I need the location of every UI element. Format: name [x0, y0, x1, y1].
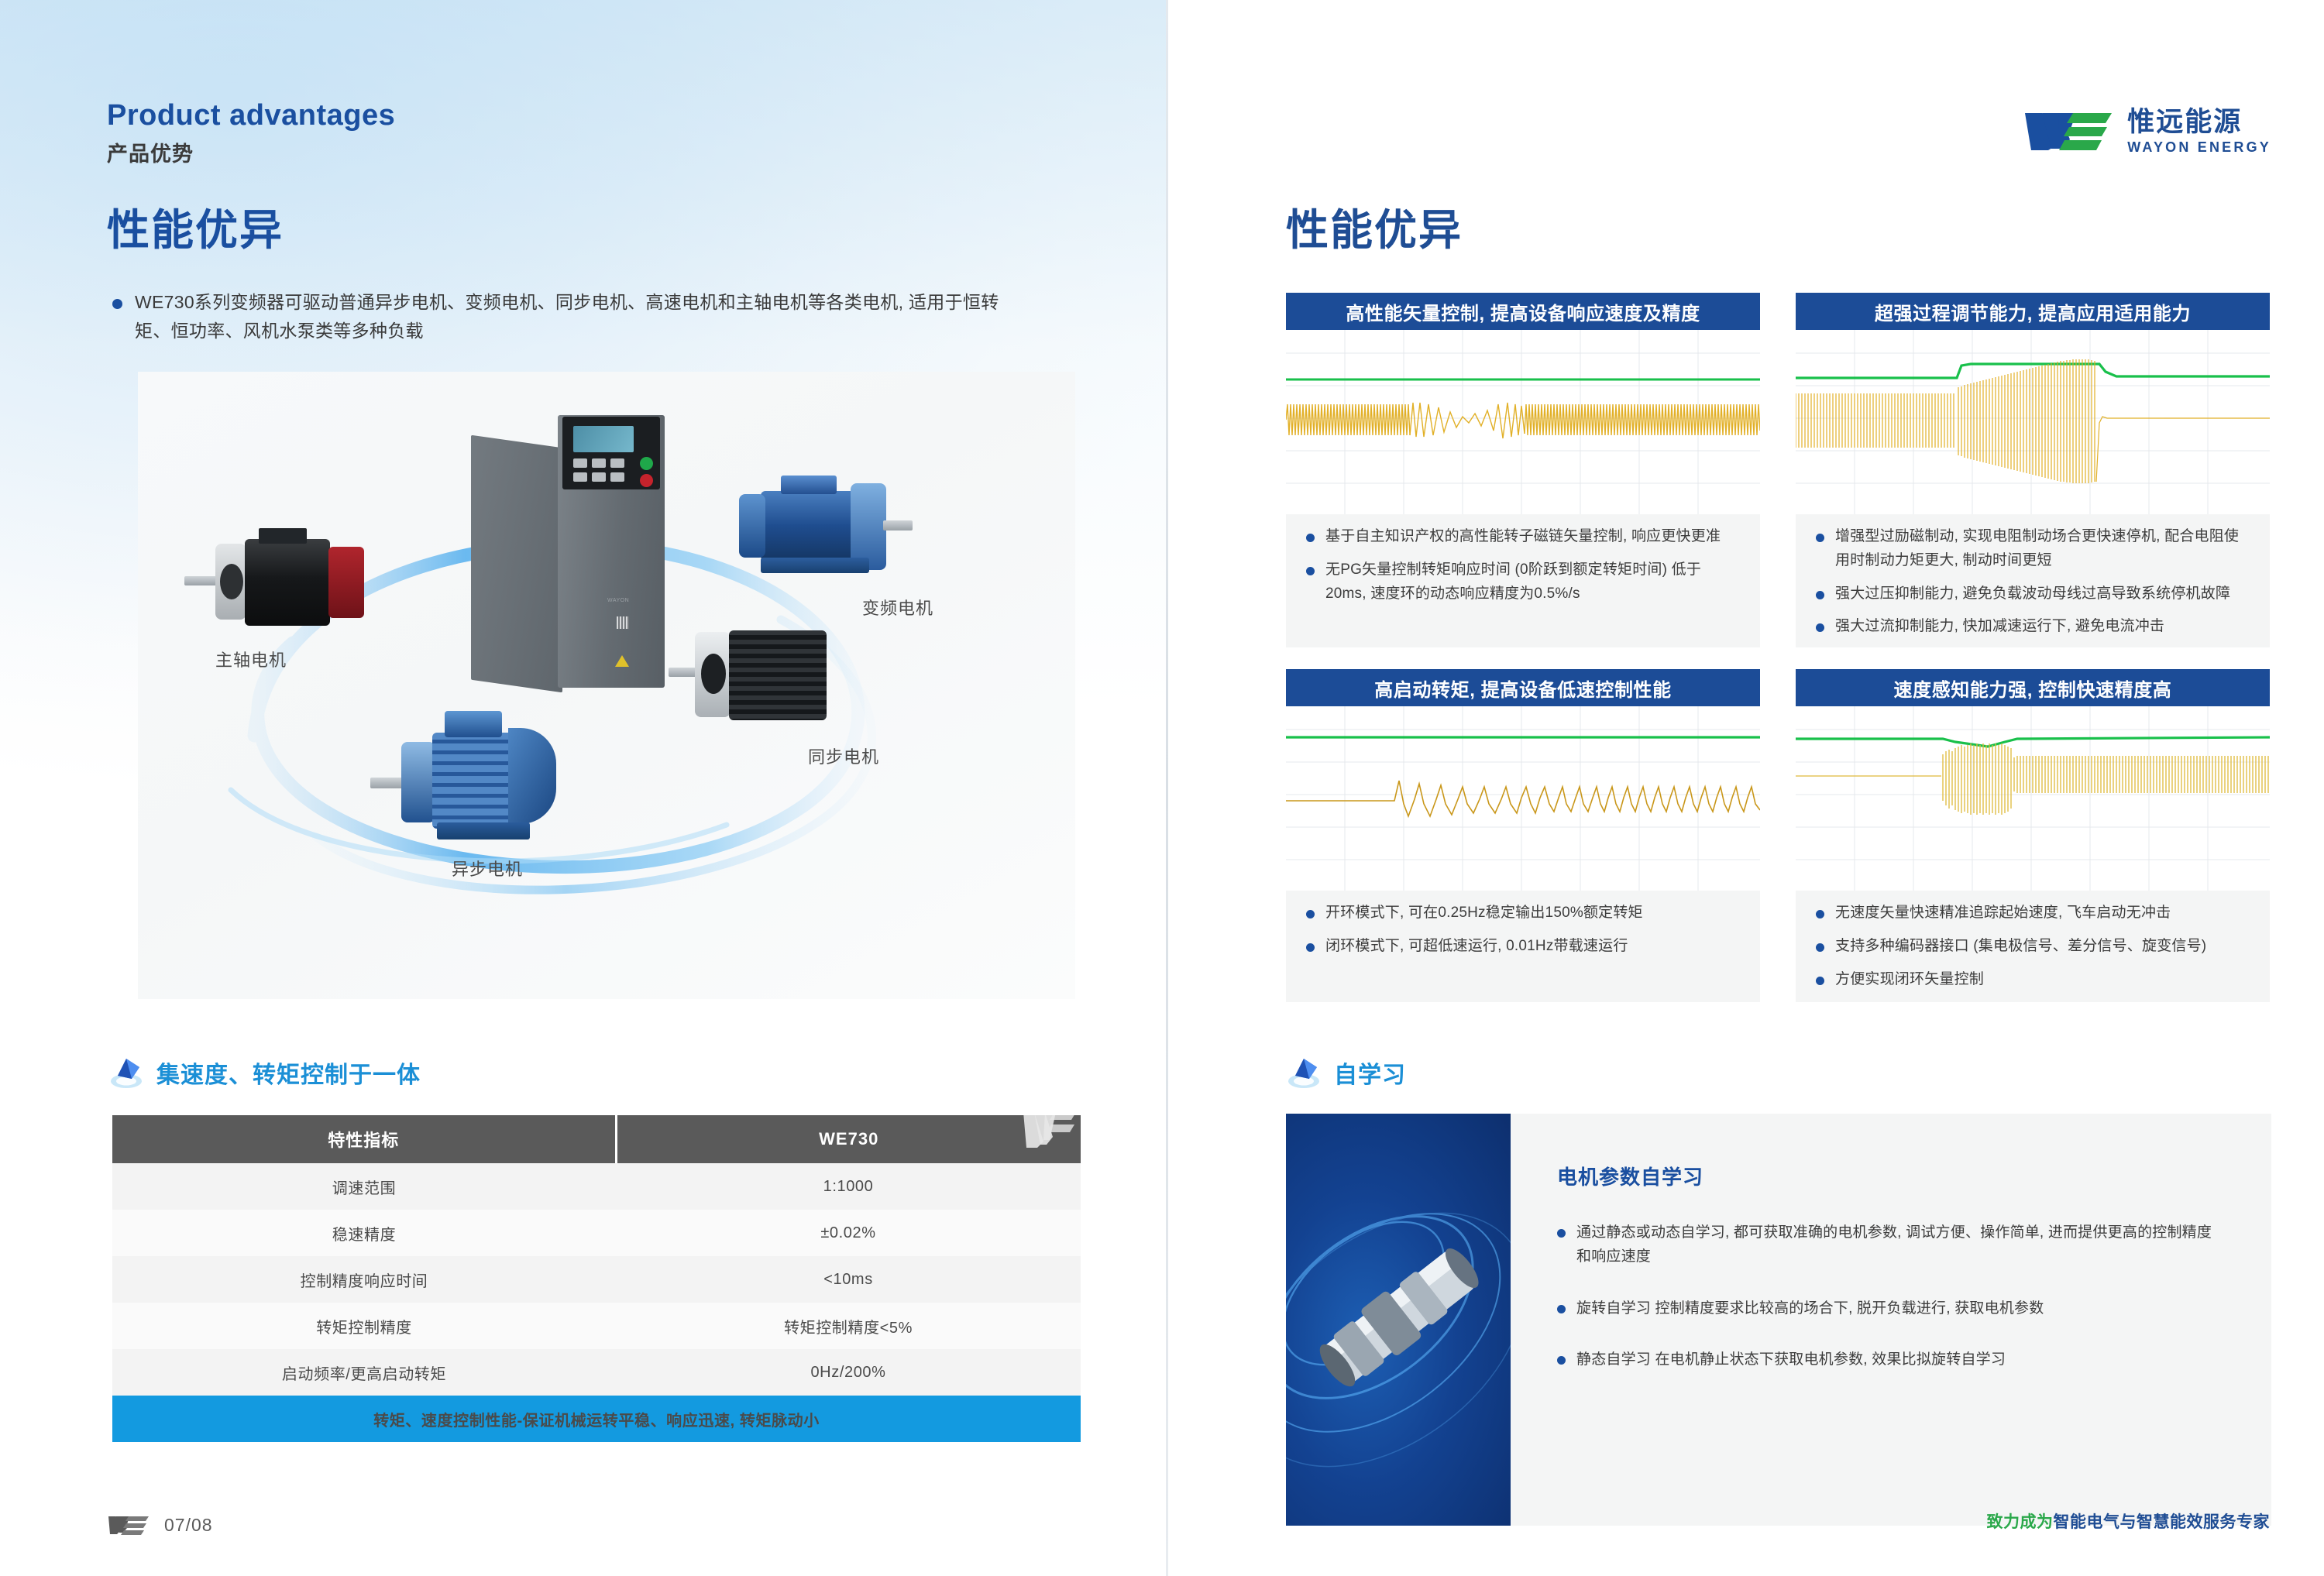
- vfd-key: [592, 472, 606, 482]
- self-learning-item: 通过静态或动态自学习, 都可获取准确的电机参数, 调试方便、操作简单, 进而提供…: [1557, 1221, 2225, 1269]
- card-bullet-text: 无PG矢量控制转矩响应时间 (0阶跃到额定转矩时间) 低于20ms, 速度环的动…: [1325, 558, 1740, 606]
- waveform-scope-speed-sensing: [1796, 706, 2270, 891]
- table-cell-value: 1:1000: [616, 1163, 1081, 1210]
- table-row: 调速范围1:1000: [112, 1163, 1081, 1210]
- variable-frequency-motor-image: [734, 471, 913, 587]
- vfd-key: [573, 472, 587, 482]
- section-heading-speed-torque: 集速度、转矩控制于一体: [108, 1055, 421, 1090]
- card-bullet-item: 方便实现闭环矢量控制: [1816, 968, 2250, 992]
- bullet-dot-icon: [1816, 943, 1824, 952]
- bullet-dot-icon: [112, 299, 122, 309]
- bullet-dot-icon: [1816, 534, 1824, 542]
- logo-chinese-name: 惟远能源: [2127, 108, 2271, 136]
- card-bullet-list: 无速度矢量快速精准追踪起始速度, 飞车启动无冲击 支持多种编码器接口 (集电极信…: [1796, 891, 2270, 1008]
- card-bullet-item: 增强型过励磁制动, 实现电阻制动场合更快速停机, 配合电阻使用时制动力矩更大, …: [1816, 525, 2250, 573]
- vfd-key: [592, 458, 606, 468]
- table-cell-metric: 调速范围: [112, 1163, 616, 1210]
- table-row: 转矩控制精度转矩控制精度<5%: [112, 1303, 1081, 1349]
- card-bullet-item: 基于自主知识产权的高性能转子磁链矢量控制, 响应更快更准: [1306, 525, 1740, 549]
- table-cell-metric: 转矩控制精度: [112, 1303, 616, 1349]
- card-bullet-text: 支持多种编码器接口 (集电极信号、差分信号、旋变信号): [1835, 935, 2206, 959]
- table-row: 稳速精度±0.02%: [112, 1210, 1081, 1256]
- card-header: 高启动转矩, 提高设备低速控制性能: [1286, 669, 1760, 706]
- card-process-regulation[interactable]: 超强过程调节能力, 提高应用适用能力: [1796, 293, 2270, 647]
- self-learning-item: 旋转自学习 控制精度要求比较高的场合下, 脱开负载进行, 获取电机参数: [1557, 1297, 2225, 1321]
- footer-tagline: 致力成为智能电气与智慧能效服务专家: [1987, 1509, 2271, 1533]
- logo-english-name: WAYON ENERGY: [2127, 140, 2271, 154]
- bullet-dot-icon: [1816, 591, 1824, 599]
- brochure-page: Product advantages 产品优势 性能优异 性能优异 惟远能源 W…: [0, 0, 2324, 1576]
- card-bullet-text: 无速度矢量快速精准追踪起始速度, 飞车启动无冲击: [1835, 901, 2171, 925]
- vfd-key: [610, 458, 624, 468]
- card-starting-torque[interactable]: 高启动转矩, 提高设备低速控制性能: [1286, 669, 1760, 1002]
- card-bullet-list: 开环模式下, 可在0.25Hz稳定输出150%额定转矩 闭环模式下, 可超低速运…: [1286, 891, 1760, 976]
- table-header-row: 特性指标 WE730: [112, 1115, 1081, 1163]
- table-row: 控制精度响应时间<10ms: [112, 1256, 1081, 1303]
- heading-chinese: 产品优势: [107, 137, 395, 167]
- bullet-dot-icon: [1306, 943, 1315, 952]
- card-header: 速度感知能力强, 控制快速精度高: [1796, 669, 2270, 706]
- table-cell-value: <10ms: [616, 1256, 1081, 1303]
- vfd-side-panel: [471, 435, 562, 693]
- table-cell-value: 转矩控制精度<5%: [616, 1303, 1081, 1349]
- diamond-badge-icon: [1286, 1055, 1322, 1090]
- card-header: 高性能矢量控制, 提高设备响应速度及精度: [1286, 293, 1760, 330]
- bullet-dot-icon: [1557, 1305, 1566, 1313]
- card-bullet-text: 方便实现闭环矢量控制: [1835, 968, 1984, 992]
- card-speed-sensing[interactable]: 速度感知能力强, 控制快速精度高: [1796, 669, 2270, 1002]
- heading-english: Product advantages: [107, 99, 395, 133]
- vfd-drive-unit-image: WAYON: [471, 409, 665, 695]
- card-bullet-text: 强大过流抑制能力, 快加减速运行下, 避免电流冲击: [1835, 615, 2164, 639]
- table-footer-text: 转矩、速度控制性能-保证机械运转平稳、响应迅速, 转矩脉动小: [112, 1396, 1081, 1442]
- table-header-model-label: WE730: [819, 1129, 878, 1149]
- section-title-text: 集速度、转矩控制于一体: [156, 1056, 421, 1090]
- card-bullet-text: 开环模式下, 可在0.25Hz稳定输出150%额定转矩: [1325, 901, 1643, 925]
- spindle-motor-image: [184, 527, 386, 635]
- diagram-label-synchronous-motor: 同步电机: [808, 743, 879, 768]
- self-learning-title: 电机参数自学习: [1557, 1162, 2225, 1190]
- page-heading: Product advantages 产品优势: [107, 99, 395, 167]
- table-body: 调速范围1:1000稳速精度±0.02%控制精度响应时间<10ms转矩控制精度转…: [112, 1163, 1081, 1396]
- vfd-brand-mark: WAYON: [607, 598, 629, 603]
- bullet-dot-icon: [1557, 1229, 1566, 1238]
- vfd-qr-code-icon: [617, 616, 629, 629]
- right-section-title: 性能优异: [1286, 195, 1463, 257]
- diagram-label-spindle-motor: 主轴电机: [215, 647, 287, 671]
- left-section-title: 性能优异: [107, 195, 284, 257]
- self-learning-item-text: 静态自学习 在电机静止状态下获取电机参数, 效果比拟旋转自学习: [1576, 1348, 2006, 1372]
- bullet-dot-icon: [1306, 910, 1315, 918]
- bullet-dot-icon: [1557, 1356, 1566, 1365]
- table-cell-metric: 控制精度响应时间: [112, 1256, 616, 1303]
- tagline-main: 智能电气与智慧能效服务专家: [2054, 1513, 2271, 1531]
- self-learning-block: 电机参数自学习 通过静态或动态自学习, 都可获取准确的电机参数, 调试方便、操作…: [1286, 1114, 2271, 1526]
- table-footer-row: 转矩、速度控制性能-保证机械运转平稳、响应迅速, 转矩脉动小: [112, 1396, 1081, 1442]
- waveform-scope-process-regulation: [1796, 330, 2270, 514]
- page-number: 07/08: [164, 1515, 213, 1536]
- diamond-badge-icon: [108, 1055, 144, 1090]
- we-watermark-icon: [1022, 1111, 1076, 1157]
- card-title: 超强过程调节能力, 提高应用适用能力: [1875, 298, 2191, 325]
- vfd-key: [610, 472, 624, 482]
- bullet-dot-icon: [1816, 910, 1824, 918]
- bullet-dot-icon: [1306, 567, 1315, 575]
- motor-rotor-image: [1286, 1114, 1511, 1526]
- card-bullet-text: 强大过压抑制能力, 避免负载波动母线过高导致系统停机故障: [1835, 582, 2230, 606]
- waveform-scope-starting-torque: [1286, 706, 1760, 891]
- diagram-label-asynchronous-motor: 异步电机: [452, 856, 523, 881]
- vfd-stop-button-icon: [640, 474, 653, 487]
- vfd-keypad-panel: [562, 417, 660, 489]
- vfd-key: [573, 458, 587, 468]
- vfd-run-button-icon: [640, 457, 653, 470]
- asynchronous-motor-image: [370, 705, 564, 844]
- table-row: 启动频率/更高启动转矩0Hz/200%: [112, 1349, 1081, 1396]
- table-header-metric: 特性指标: [112, 1115, 616, 1163]
- table-cell-value: ±0.02%: [616, 1210, 1081, 1256]
- table-cell-metric: 启动频率/更高启动转矩: [112, 1349, 616, 1396]
- section-heading-self-learning: 自学习: [1286, 1055, 1406, 1090]
- card-bullet-item: 无PG矢量控制转矩响应时间 (0阶跃到额定转矩时间) 低于20ms, 速度环的动…: [1306, 558, 1740, 606]
- vfd-warning-icon: [615, 655, 629, 667]
- company-logo: 惟远能源 WAYON ENERGY: [2025, 108, 2271, 154]
- bullet-dot-icon: [1816, 977, 1824, 985]
- table-cell-metric: 稳速精度: [112, 1210, 616, 1256]
- self-learning-content: 电机参数自学习 通过静态或动态自学习, 都可获取准确的电机参数, 调试方便、操作…: [1511, 1114, 2271, 1526]
- bullet-dot-icon: [1306, 534, 1315, 542]
- card-bullet-item: 支持多种编码器接口 (集电极信号、差分信号、旋变信号): [1816, 935, 2250, 959]
- card-bullet-list: 基于自主知识产权的高性能转子磁链矢量控制, 响应更快更准 无PG矢量控制转矩响应…: [1286, 514, 1760, 623]
- lead-bullet-text: WE730系列变频器可驱动普通异步电机、变频电机、同步电机、高速电机和主轴电机等…: [135, 288, 1011, 346]
- card-bullet-text: 闭环模式下, 可超低速运行, 0.01Hz带载速运行: [1325, 935, 1628, 959]
- card-bullet-item: 开环模式下, 可在0.25Hz稳定输出150%额定转矩: [1306, 901, 1740, 925]
- we-footer-logo-icon: [108, 1516, 150, 1536]
- self-learning-item: 静态自学习 在电机静止状态下获取电机参数, 效果比拟旋转自学习: [1557, 1348, 2225, 1372]
- card-bullet-item: 闭环模式下, 可超低速运行, 0.01Hz带载速运行: [1306, 935, 1740, 959]
- card-bullet-item: 无速度矢量快速精准追踪起始速度, 飞车启动无冲击: [1816, 901, 2250, 925]
- footer-left: 07/08: [108, 1515, 213, 1536]
- table-header-model: WE730: [616, 1115, 1081, 1163]
- card-bullet-item: 强大过流抑制能力, 快加减速运行下, 避免电流冲击: [1816, 615, 2250, 639]
- logo-text: 惟远能源 WAYON ENERGY: [2127, 108, 2271, 154]
- card-bullet-list: 增强型过励磁制动, 实现电阻制动场合更快速停机, 配合电阻使用时制动力矩更大, …: [1796, 514, 2270, 656]
- card-vector-control[interactable]: 高性能矢量控制, 提高设备响应速度及精度: [1286, 293, 1760, 647]
- card-title: 速度感知能力强, 控制快速精度高: [1894, 675, 2172, 702]
- synchronous-motor-image: [669, 620, 847, 736]
- motor-application-diagram: WAYON: [138, 372, 1075, 999]
- lead-bullet: WE730系列变频器可驱动普通异步电机、变频电机、同步电机、高速电机和主轴电机等…: [112, 288, 1011, 346]
- card-title: 高性能矢量控制, 提高设备响应速度及精度: [1346, 298, 1700, 325]
- card-bullet-item: 强大过压抑制能力, 避免负载波动母线过高导致系统停机故障: [1816, 582, 2250, 606]
- diagram-label-variable-frequency-motor: 变频电机: [862, 595, 933, 620]
- waveform-scope-vector-control: [1286, 330, 1760, 514]
- card-title: 高启动转矩, 提高设备低速控制性能: [1374, 675, 1672, 702]
- card-bullet-text: 增强型过励磁制动, 实现电阻制动场合更快速停机, 配合电阻使用时制动力矩更大, …: [1835, 525, 2250, 573]
- tagline-prefix: 致力成为: [1987, 1513, 2054, 1531]
- self-learning-item-text: 旋转自学习 控制精度要求比较高的场合下, 脱开负载进行, 获取电机参数: [1576, 1297, 2044, 1321]
- section-title-text: 自学习: [1334, 1056, 1406, 1090]
- bullet-dot-icon: [1816, 623, 1824, 632]
- card-bullet-text: 基于自主知识产权的高性能转子磁链矢量控制, 响应更快更准: [1325, 525, 1721, 549]
- spec-table: 特性指标 WE730 调速范围1:1000稳速精度±0.02%控制: [112, 1115, 1081, 1442]
- self-learning-item-text: 通过静态或动态自学习, 都可获取准确的电机参数, 调试方便、操作简单, 进而提供…: [1576, 1221, 2225, 1269]
- card-header: 超强过程调节能力, 提高应用适用能力: [1796, 293, 2270, 330]
- we-logo-icon: [2025, 110, 2115, 153]
- table-cell-value: 0Hz/200%: [616, 1349, 1081, 1396]
- vfd-display-screen: [573, 426, 634, 452]
